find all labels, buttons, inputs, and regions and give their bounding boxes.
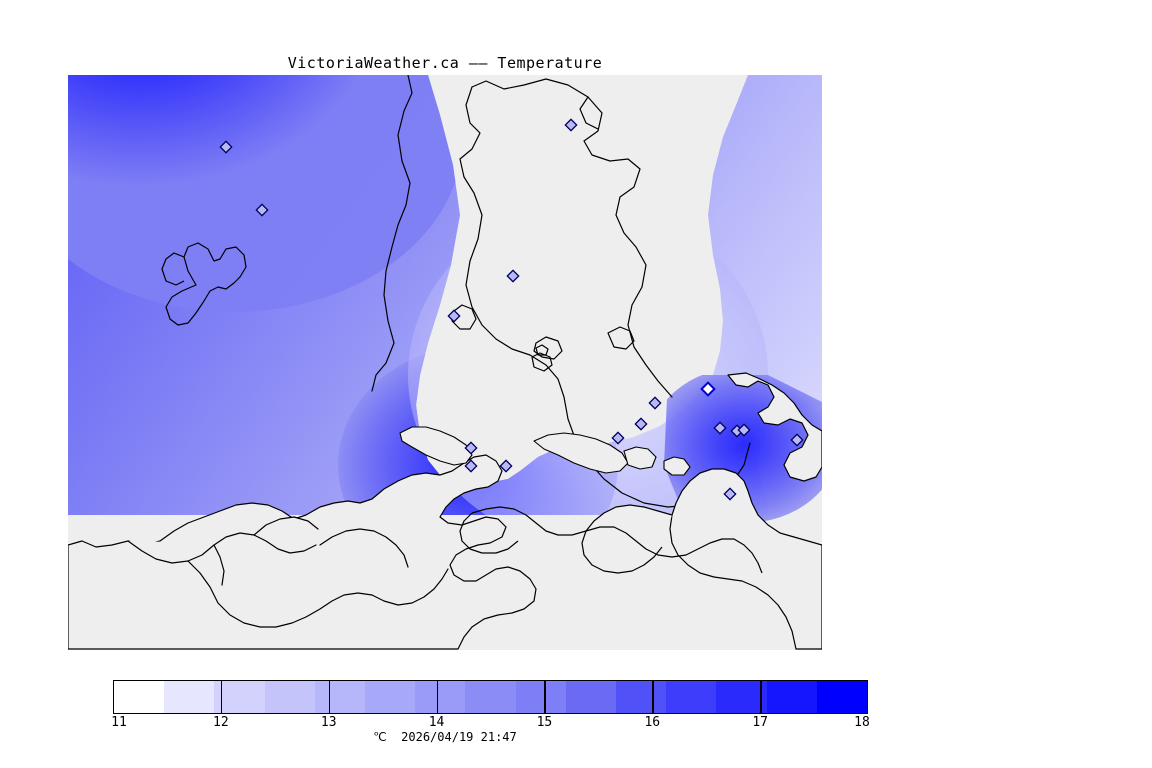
colorbar-swatch-12 — [716, 681, 766, 713]
colorbar-label-14: 14 — [429, 715, 445, 730]
colorbar-swatch-5 — [365, 681, 415, 713]
colorbar-label-15: 15 — [537, 715, 553, 730]
colorbar-swatch-7 — [465, 681, 515, 713]
map-canvas[interactable] — [68, 75, 822, 650]
colorbar-swatch-14 — [817, 681, 867, 713]
colorbar-label-16: 16 — [644, 715, 660, 730]
colorbar-label-12: 12 — [213, 715, 229, 730]
colorbar-label-13: 13 — [321, 715, 337, 730]
colorbar-swatch-2 — [214, 681, 264, 713]
colorbar-label-11: 11 — [111, 715, 127, 730]
colorbar-swatch-0 — [114, 681, 164, 713]
colorbar-swatch-1 — [164, 681, 214, 713]
colorbar-swatch-6 — [415, 681, 465, 713]
page-title: VictoriaWeather.ca —— Temperature — [0, 54, 890, 72]
colorbar-label-18: 18 — [854, 715, 870, 730]
colorbar-label-17: 17 — [752, 715, 768, 730]
colorbar-swatch-3 — [265, 681, 315, 713]
colorbar-swatch-13 — [767, 681, 817, 713]
colorbar-swatch-8 — [516, 681, 566, 713]
colorbar[interactable]: 1112131415161718 — [113, 680, 868, 714]
temperature-map-panel[interactable] — [68, 75, 822, 650]
colorbar-swatches[interactable] — [113, 680, 868, 714]
colorbar-swatch-4 — [315, 681, 365, 713]
colorbar-swatch-9 — [566, 681, 616, 713]
colorbar-caption: ℃ 2026/04/19 21:47 — [0, 730, 890, 744]
colorbar-swatch-10 — [616, 681, 666, 713]
colorbar-swatch-11 — [666, 681, 716, 713]
